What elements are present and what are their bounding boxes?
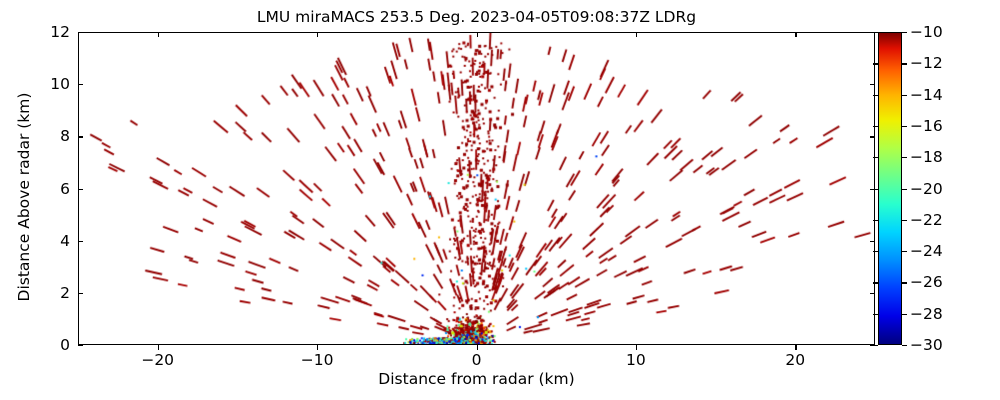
colorbar-tick-10 [902,32,907,33]
x-tick-3 [636,345,637,350]
colorbar-tick-label-5: −20 [910,180,943,198]
colorbar-tick-4 [902,220,907,221]
y-tick-label-5: 10 [32,75,70,93]
colorbar-tick-5 [902,189,907,190]
x-tick-label-0: −20 [141,351,174,369]
x-tick-4 [795,345,796,350]
colorbar-tick-inner-6 [873,157,878,158]
x-tick-2 [477,345,478,350]
colorbar-tick-6 [902,157,907,158]
colorbar-tick-inner-8 [873,95,878,96]
x-tick-0 [158,345,159,350]
y-tick-label-1: 2 [32,284,70,302]
y-tick-4 [78,136,83,137]
colorbar-tick-inner-0 [873,345,878,346]
y-tick-1 [78,293,83,294]
colorbar-tick-label-4: −22 [910,211,943,229]
plot-axes-area [78,32,875,345]
x-tick-1 [317,345,318,350]
x-tick-top-4 [795,32,796,37]
y-tick-right-4 [870,136,875,137]
colorbar-tick-inner-9 [873,63,878,64]
colorbar-tick-inner-7 [873,126,878,127]
scatter-data-canvas [79,33,874,344]
colorbar-tick-label-10: −10 [910,23,943,41]
colorbar-tick-9 [902,63,907,64]
colorbar-tick-label-7: −16 [910,117,943,135]
colorbar-tick-inner-5 [873,189,878,190]
y-tick-label-2: 4 [32,232,70,250]
y-tick-right-5 [870,84,875,85]
colorbar-tick-label-2: −26 [910,273,943,291]
y-tick-6 [78,32,83,33]
radar-plot-figure: LMU miraMACS 253.5 Deg. 2023-04-05T09:08… [0,0,1000,400]
y-tick-right-2 [870,241,875,242]
y-tick-5 [78,84,83,85]
y-tick-2 [78,241,83,242]
colorbar-tick-inner-1 [873,314,878,315]
colorbar-tick-2 [902,282,907,283]
colorbar-tick-inner-10 [873,32,878,33]
x-tick-label-3: 10 [626,351,646,369]
x-tick-top-3 [636,32,637,37]
colorbar-tick-label-1: −28 [910,305,943,323]
x-tick-label-1: −10 [301,351,334,369]
y-tick-label-4: 8 [32,127,70,145]
colorbar-tick-inner-3 [873,251,878,252]
colorbar-tick-1 [902,314,907,315]
x-tick-top-2 [477,32,478,37]
colorbar-tick-label-6: −18 [910,148,943,166]
x-tick-label-2: 0 [472,351,482,369]
x-tick-top-1 [317,32,318,37]
colorbar-tick-3 [902,251,907,252]
x-axis-label: Distance from radar (km) [78,370,875,388]
colorbar-tick-inner-2 [873,282,878,283]
y-tick-label-0: 0 [32,336,70,354]
page-title: LMU miraMACS 253.5 Deg. 2023-04-05T09:08… [78,8,875,26]
y-tick-3 [78,189,83,190]
colorbar-tick-label-9: −12 [910,54,943,72]
colorbar-tick-0 [902,345,907,346]
x-tick-label-4: 20 [785,351,805,369]
colorbar-tick-7 [902,126,907,127]
y-tick-right-1 [870,293,875,294]
colorbar-tick-label-0: −30 [910,336,943,354]
x-tick-top-0 [158,32,159,37]
colorbar-tick-8 [902,95,907,96]
y-axis-label: Distance Above radar (km) [15,37,33,357]
colorbar-tick-label-3: −24 [910,242,943,260]
y-tick-label-6: 12 [32,23,70,41]
colorbar-tick-label-8: −14 [910,86,943,104]
colorbar-gradient [878,32,902,345]
colorbar-tick-inner-4 [873,220,878,221]
y-tick-0 [78,345,83,346]
y-tick-label-3: 6 [32,180,70,198]
